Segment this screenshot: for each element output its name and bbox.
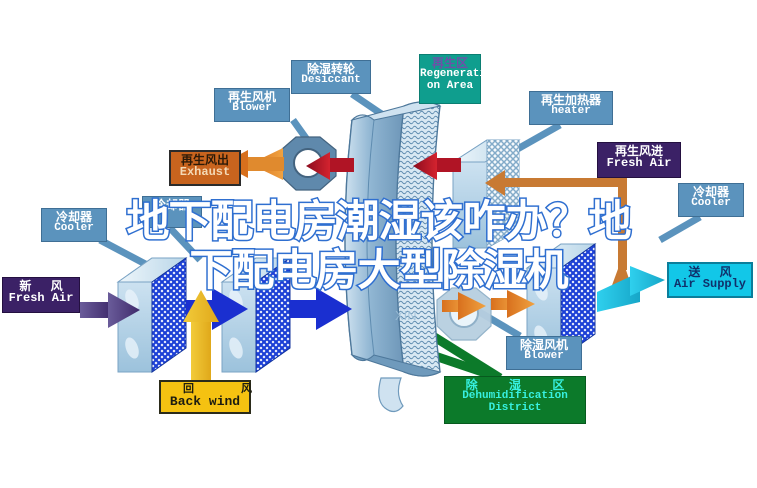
label-regen-heater[interactable]: 再生加热器 heater <box>529 91 613 125</box>
arrow-process-2 <box>290 288 352 330</box>
label-air-supply[interactable]: 送 风 Air Supply <box>667 262 753 298</box>
diagram-canvas: XIN <box>0 0 757 488</box>
label-en: Blower <box>215 103 289 114</box>
label-regen-blower[interactable]: 再生风机 Blower <box>214 88 290 122</box>
desiccant-wheel: XIN <box>345 102 440 412</box>
label-cn: 冷却器 <box>143 199 201 211</box>
label-regen-fresh-air[interactable]: 再生风进 Fresh Air <box>597 142 681 178</box>
label-en2: on Area <box>420 81 480 92</box>
label-exhaust[interactable]: 再生风出 Exhaust <box>169 150 241 186</box>
label-dehumidification-district[interactable]: 除 湿 区 Dehumidification District <box>444 376 586 424</box>
label-fresh-air-intake[interactable]: 新 风 Fresh Air <box>2 277 80 313</box>
regen-heater-block <box>453 140 519 248</box>
label-en: Exhaust <box>171 166 239 178</box>
label-en2: District <box>445 403 585 414</box>
label-en: Cooler <box>42 223 106 234</box>
label-regeneration-area[interactable]: 再生区 Regenerati on Area <box>419 54 481 104</box>
label-en: Fresh Air <box>598 157 680 169</box>
diagram-graphics: XIN <box>0 0 757 488</box>
label-en: Air Supply <box>669 278 751 290</box>
svg-text:XIN: XIN <box>395 308 417 323</box>
label-en: Fresh Air <box>3 292 79 304</box>
label-desiccant-wheel[interactable]: 除湿转轮 Desiccant <box>291 60 371 94</box>
label-en: Desiccant <box>292 75 370 86</box>
label-en: Cooler <box>679 198 743 209</box>
label-cooler-left[interactable]: 冷却器 Cooler <box>41 208 107 242</box>
label-cooler-left-secondary[interactable]: 冷却器 <box>142 196 202 228</box>
arrow-air-supply <box>597 266 665 312</box>
label-en: Blower <box>507 351 581 362</box>
label-en: heater <box>530 106 612 117</box>
label-dehum-blower[interactable]: 除湿风机 Blower <box>506 336 582 370</box>
label-back-wind[interactable]: 回 风 Back wind <box>159 380 251 414</box>
label-en: Back wind <box>161 395 249 409</box>
label-cooler-right[interactable]: 冷却器 Cooler <box>678 183 744 217</box>
